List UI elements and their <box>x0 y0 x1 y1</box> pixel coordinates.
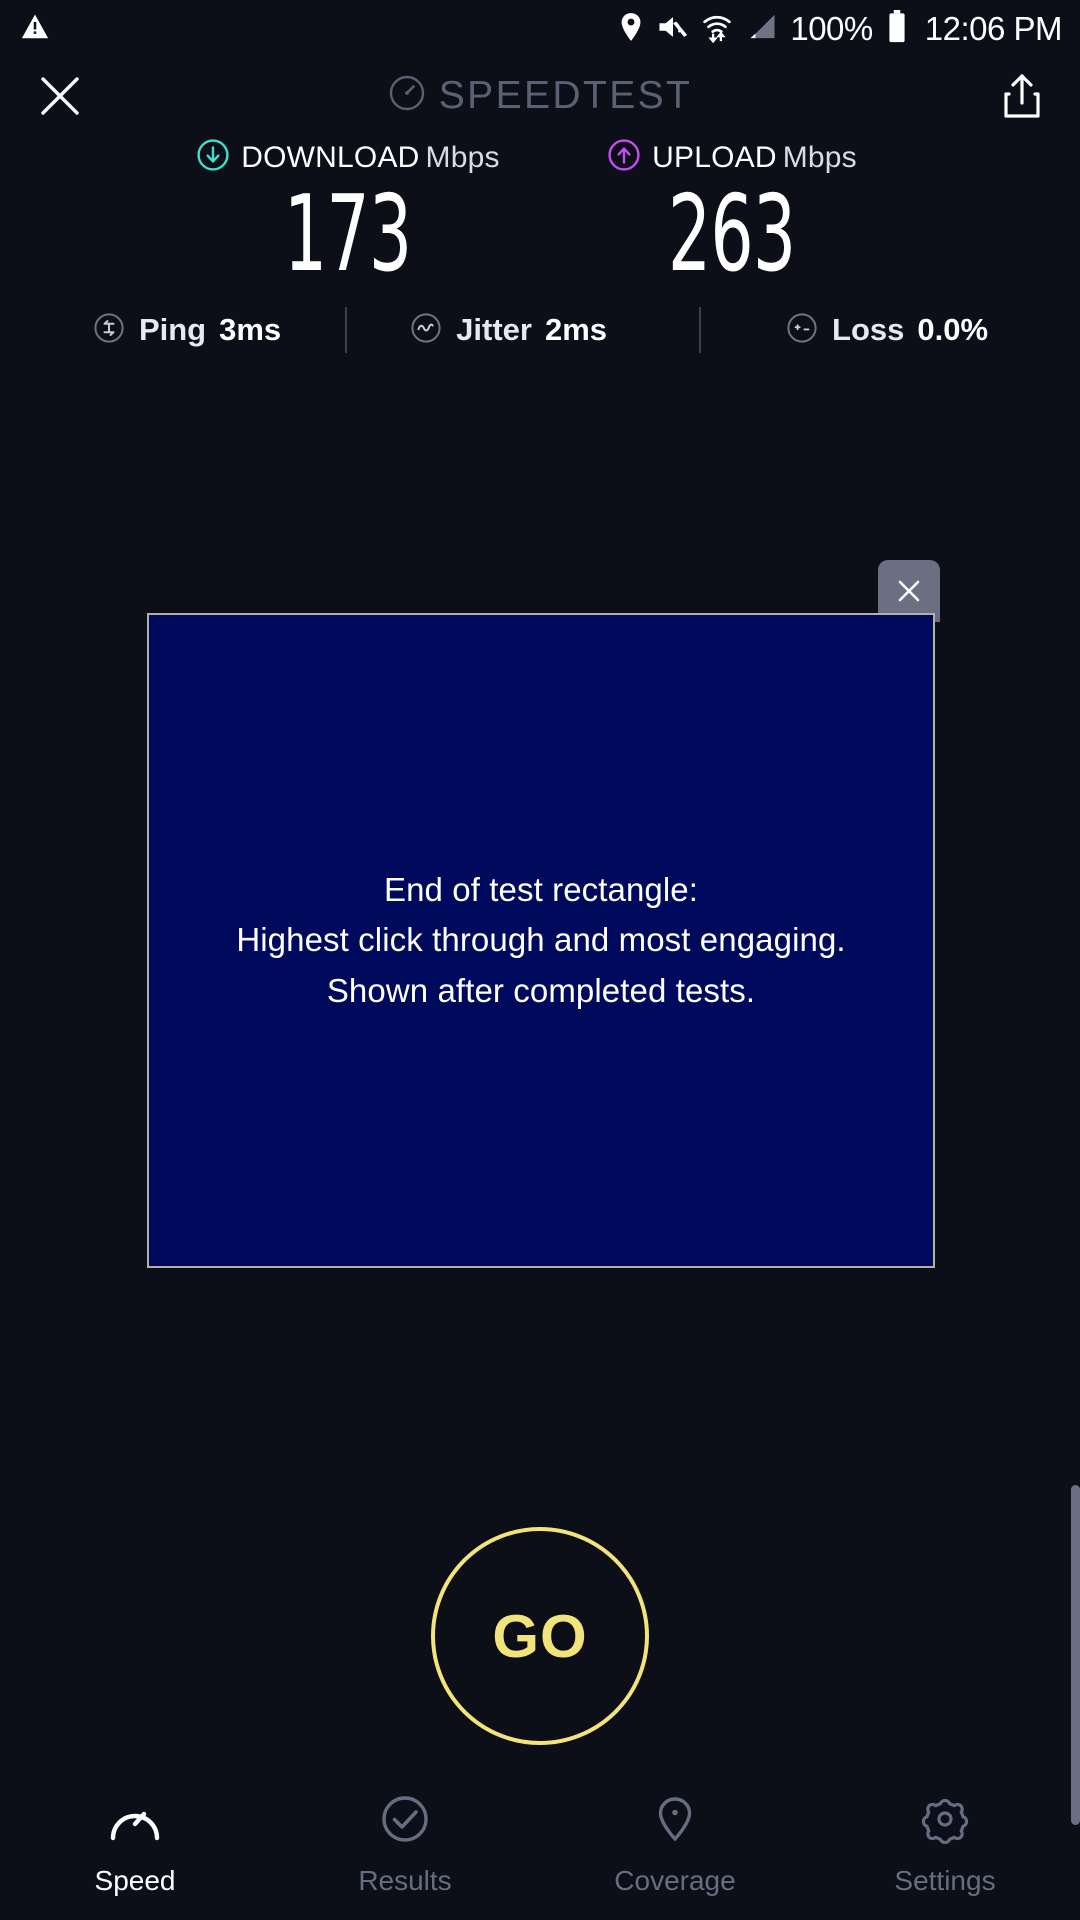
ping-exchange-icon <box>92 311 126 350</box>
cell-signal-icon <box>745 12 777 47</box>
download-result: DOWNLOADMbps 173 <box>158 138 538 289</box>
nav-item-speed-label: Speed <box>95 1865 176 1897</box>
nav-item-results-label: Results <box>358 1865 451 1897</box>
jitter-wave-icon <box>409 311 443 350</box>
upload-result: UPLOADMbps 263 <box>542 138 922 289</box>
status-bar-clock: 12:06 PM <box>925 10 1062 48</box>
ad-text-line-3: Shown after completed tests. <box>236 966 845 1016</box>
download-label: DOWNLOADMbps <box>241 141 499 175</box>
map-pin-icon <box>645 1794 705 1849</box>
nav-item-results[interactable]: Results <box>270 1794 540 1897</box>
battery-percent-label: 100% <box>790 10 872 48</box>
page-title: SPEEDTEST <box>439 74 693 118</box>
nav-item-coverage[interactable]: Coverage <box>540 1794 810 1897</box>
metric-loss: Loss 0.0% <box>785 311 988 350</box>
loss-plusminus-icon <box>785 311 819 350</box>
wifi-transfer-icon <box>702 11 732 48</box>
ad-creative[interactable]: End of test rectangle: Highest click thr… <box>147 613 935 1268</box>
upload-header: UPLOADMbps <box>607 138 857 177</box>
upload-label: UPLOADMbps <box>652 141 857 175</box>
metric-loss-label: Loss <box>832 312 904 348</box>
nav-item-speed[interactable]: Speed <box>0 1794 270 1897</box>
speedtest-app-screen: 100% 12:06 PM S <box>0 0 1080 1920</box>
check-circle-icon <box>375 1794 435 1849</box>
go-button[interactable]: GO <box>431 1527 649 1745</box>
speedometer-icon <box>388 74 426 117</box>
speed-results-row: DOWNLOADMbps 173 UPLOADMbps 263 <box>0 138 1080 289</box>
metric-jitter-value: 2ms <box>545 312 607 348</box>
system-status-bar: 100% 12:06 PM <box>0 0 1080 58</box>
metric-divider <box>345 307 347 353</box>
close-app-button[interactable] <box>34 70 86 122</box>
download-header: DOWNLOADMbps <box>196 138 499 177</box>
nav-item-settings[interactable]: Settings <box>810 1794 1080 1897</box>
battery-full-icon <box>886 10 908 49</box>
speedometer-gauge-icon <box>105 1794 165 1849</box>
ad-text: End of test rectangle: Highest click thr… <box>236 865 845 1015</box>
metric-jitter-label: Jitter <box>456 312 532 348</box>
speed-results: DOWNLOADMbps 173 UPLOADMbps 263 <box>0 138 1080 289</box>
metric-ping-label: Ping <box>139 312 206 348</box>
volume-mute-icon <box>657 12 689 47</box>
brand-title-group: SPEEDTEST <box>0 58 1080 133</box>
status-bar-right: 100% 12:06 PM <box>618 10 1062 49</box>
app-header: SPEEDTEST <box>0 58 1080 133</box>
gear-icon <box>915 1794 975 1849</box>
go-button-label: GO <box>492 1602 587 1671</box>
location-pin-icon <box>618 12 644 47</box>
metric-loss-value: 0.0% <box>917 312 988 348</box>
nav-item-settings-label: Settings <box>894 1865 995 1897</box>
upload-arrow-icon <box>607 138 641 177</box>
metric-ping: Ping 3ms <box>92 311 281 350</box>
metric-ping-value: 3ms <box>219 312 281 348</box>
ad-text-line-2: Highest click through and most engaging. <box>236 915 845 965</box>
status-bar-left <box>20 12 50 47</box>
bottom-navigation-bar: Speed Results Coverage <box>0 1770 1080 1920</box>
share-button[interactable] <box>998 70 1046 122</box>
nav-item-coverage-label: Coverage <box>614 1865 735 1897</box>
metric-jitter: Jitter 2ms <box>409 311 607 350</box>
upload-value: 263 <box>668 179 796 289</box>
connection-metrics-row: Ping 3ms Jitter 2ms <box>0 300 1080 360</box>
ad-text-line-1: End of test rectangle: <box>236 865 845 915</box>
download-arrow-icon <box>196 138 230 177</box>
warning-triangle-icon <box>20 12 50 47</box>
metric-divider <box>699 307 701 353</box>
download-value: 173 <box>284 179 412 289</box>
